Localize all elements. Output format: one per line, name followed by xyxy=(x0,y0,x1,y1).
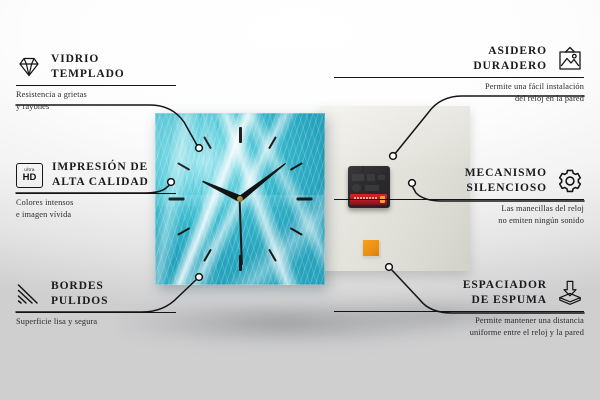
feature-asidero-duradero: ASIDERO DURADERO Permite una fácil insta… xyxy=(334,44,584,105)
ultra-hd-main-label: HD xyxy=(23,173,37,183)
feature-divider xyxy=(334,199,584,200)
feature-title: VIDRIO TEMPLADO xyxy=(51,52,125,82)
feature-title: IMPRESIÓN DE ALTA CALIDAD xyxy=(52,160,149,190)
feature-desc-line2: e imagen vívida xyxy=(16,209,266,221)
feature-description: Permite mantener una distancia uniforme … xyxy=(334,315,584,339)
feature-desc-line2: no emiten ningún sonido xyxy=(334,215,584,227)
feature-mecanismo-silencioso: MECANISMO SILENCIOSO Las manecillas del … xyxy=(334,166,584,227)
feature-title-line1: ASIDERO xyxy=(473,44,547,59)
feature-title-line1: IMPRESIÓN DE xyxy=(52,160,149,175)
feature-title-line2: SILENCIOSO xyxy=(465,181,547,196)
feature-bordes-pulidos: BORDES PULIDOS Superficie lisa y segura xyxy=(16,279,266,328)
feature-title-line2: ALTA CALIDAD xyxy=(52,175,149,190)
clock-tick xyxy=(239,127,242,143)
feature-header: VIDRIO TEMPLADO xyxy=(16,52,266,82)
feature-header: ASIDERO DURADERO xyxy=(334,44,584,74)
feature-description: Colores intensos e imagen vívida xyxy=(16,197,266,221)
feature-title-line2: DE ESPUMA xyxy=(463,293,547,308)
feature-desc-line1: Resistencia a grietas xyxy=(16,89,266,101)
hanging-frame-icon xyxy=(556,46,584,72)
feature-title-line2: DURADERO xyxy=(473,59,547,74)
feature-title: BORDES PULIDOS xyxy=(51,279,108,309)
gear-icon xyxy=(556,168,584,194)
feature-desc-line1: Superficie lisa y segura xyxy=(16,316,266,328)
feature-title: MECANISMO SILENCIOSO xyxy=(465,166,547,196)
feature-header: MECANISMO SILENCIOSO xyxy=(334,166,584,196)
feature-divider xyxy=(334,311,584,312)
feature-title-line1: MECANISMO xyxy=(465,166,547,181)
ultra-hd-icon: ultra HD xyxy=(16,163,43,188)
foam-spacer-icon xyxy=(556,280,584,306)
foam-spacer-pad xyxy=(363,240,379,256)
feature-divider xyxy=(16,193,176,194)
feature-desc-line1: Permite una fácil instalación xyxy=(334,81,584,93)
feature-description: Permite una fácil instalación del reloj … xyxy=(334,81,584,105)
diamond-icon xyxy=(16,55,42,79)
feature-description: Superficie lisa y segura xyxy=(16,316,266,328)
feature-desc-line2: uniforme entre el reloj y la pared xyxy=(334,327,584,339)
feature-espaciador-de-espuma: ESPACIADOR DE ESPUMA Permite mantener un… xyxy=(334,278,584,339)
feature-divider xyxy=(16,85,176,86)
feature-title-line1: BORDES xyxy=(51,279,108,294)
feature-title-line2: TEMPLADO xyxy=(51,67,125,82)
feature-header: ESPACIADOR DE ESPUMA xyxy=(334,278,584,308)
feature-title: ESPACIADOR DE ESPUMA xyxy=(463,278,547,308)
polished-edges-icon xyxy=(16,282,42,306)
feature-description: Resistencia a grietas y rayones xyxy=(16,89,266,113)
feature-impresion-alta-calidad: ultra HD IMPRESIÓN DE ALTA CALIDAD Color… xyxy=(16,160,266,221)
feature-divider xyxy=(16,312,176,313)
feature-vidrio-templado: VIDRIO TEMPLADO Resistencia a grietas y … xyxy=(16,52,266,113)
feature-title-line1: ESPACIADOR xyxy=(463,278,547,293)
feature-desc-line2: del reloj en la pared xyxy=(334,93,584,105)
feature-desc-line2: y rayones xyxy=(16,101,266,113)
feature-divider xyxy=(334,77,584,78)
feature-desc-line1: Las manecillas del reloj xyxy=(334,203,584,215)
clock-tick xyxy=(297,198,313,201)
feature-desc-line1: Colores intensos xyxy=(16,197,266,209)
feature-description: Las manecillas del reloj no emiten ningú… xyxy=(334,203,584,227)
product-infographic: VIDRIO TEMPLADO Resistencia a grietas y … xyxy=(0,0,600,400)
feature-title-line2: PULIDOS xyxy=(51,294,108,309)
feature-header: ultra HD IMPRESIÓN DE ALTA CALIDAD xyxy=(16,160,266,190)
feature-header: BORDES PULIDOS xyxy=(16,279,266,309)
feature-desc-line1: Permite mantener una distancia xyxy=(334,315,584,327)
feature-title-line1: VIDRIO xyxy=(51,52,125,67)
feature-title: ASIDERO DURADERO xyxy=(473,44,547,74)
